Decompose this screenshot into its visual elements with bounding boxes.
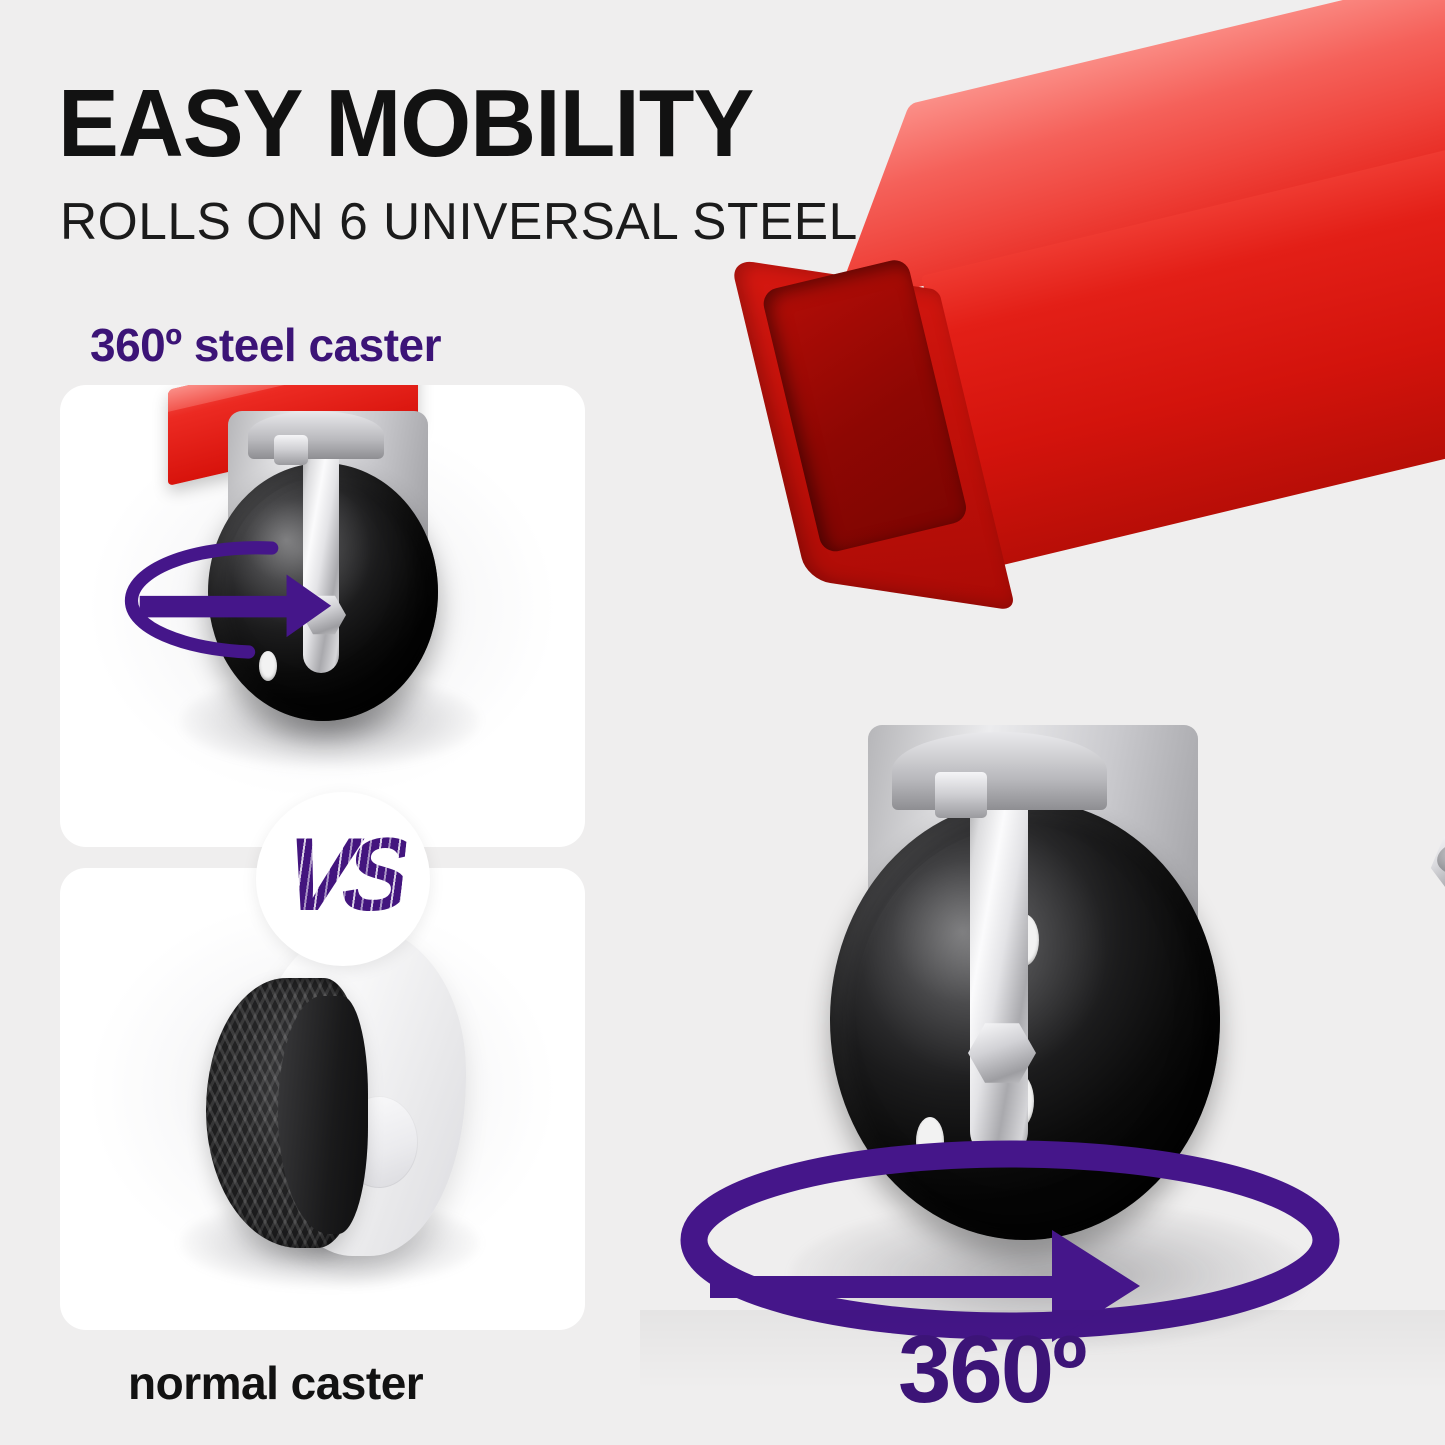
vs-label: VS (278, 823, 408, 927)
vs-badge: VS (256, 792, 430, 966)
page-title: EASY MOBILITY (58, 76, 753, 172)
steel-caster-label: 360º steel caster (90, 318, 441, 372)
hero-swivel-bearing (892, 732, 1107, 810)
degree-label: 360º (898, 1322, 1085, 1418)
normal-caster-label: normal caster (128, 1356, 423, 1410)
red-steel-tube (732, 91, 1445, 512)
hero-fork-pin (935, 772, 987, 818)
product-feature-image: EASY MOBILITY ROLLS ON 6 UNIVERSAL STEEL… (0, 0, 1445, 1445)
fork-pin (274, 435, 308, 465)
hero-fork-plate (970, 760, 1028, 1160)
steel-caster-card (60, 385, 585, 847)
rotation-arrow-icon (110, 520, 440, 685)
hero-product-photo (640, 160, 1445, 1390)
swivel-bearing (248, 411, 384, 459)
